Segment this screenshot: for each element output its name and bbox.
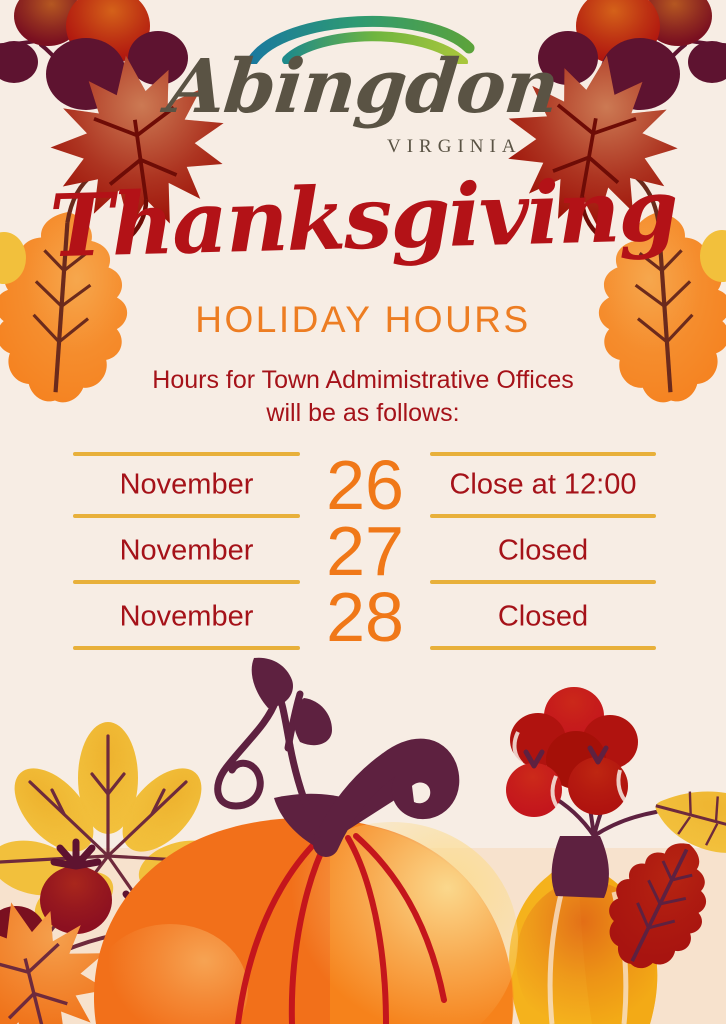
row-rule-left-top [73, 452, 300, 456]
row-status: Close at 12:00 [430, 469, 656, 502]
table-row: November 26 Close at 12:00 [0, 452, 726, 518]
intro-line-1: Hours for Town Admimistrative Offices [0, 364, 726, 397]
row-month: November [73, 469, 300, 502]
berry-cluster [506, 687, 656, 836]
holiday-hours-schedule: November 26 Close at 12:00 November 27 C… [0, 452, 726, 650]
logo-wordmark: Abingdon [0, 50, 726, 124]
row-day-number: 28 [300, 582, 430, 652]
row-rule-left-bottom [73, 646, 300, 650]
ground-band [0, 848, 726, 1024]
row-rule-right-top [430, 452, 656, 456]
row-month: November [73, 601, 300, 634]
row-month: November [73, 535, 300, 568]
intro-line-2: will be as follows: [0, 397, 726, 430]
row-day-number: 27 [300, 516, 430, 586]
table-row: November 28 Closed [0, 584, 726, 650]
title-holiday-hours: HOLIDAY HOURS [0, 299, 726, 341]
thanksgiving-holiday-hours-poster: Abingdon VIRGINIA Thanksgiving HOLIDAY H… [0, 0, 726, 1024]
row-status: Closed [430, 535, 656, 568]
intro-text: Hours for Town Admimistrative Offices wi… [0, 364, 726, 430]
title-thanksgiving: Thanksgiving [0, 167, 726, 272]
table-row: November 27 Closed [0, 518, 726, 584]
row-day-number: 26 [300, 450, 430, 520]
abingdon-logo: Abingdon VIRGINIA [0, 8, 726, 124]
row-rule-right-bottom [430, 646, 656, 650]
pumpkin-stem-vine [218, 658, 447, 844]
logo-state-label: VIRGINIA [387, 136, 522, 158]
row-status: Closed [430, 601, 656, 634]
